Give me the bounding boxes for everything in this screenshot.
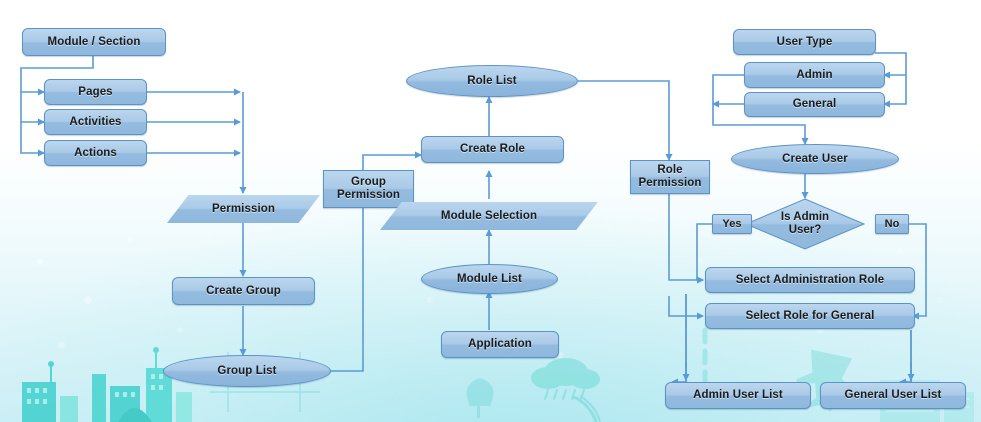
node-module-section[interactable]: Module / Section bbox=[22, 28, 166, 56]
node-application[interactable]: Application bbox=[441, 331, 559, 358]
node-module-list-label: Module List bbox=[457, 273, 522, 286]
node-select-administration-role-label: Select Administration Role bbox=[736, 274, 885, 287]
node-create-user[interactable]: Create User bbox=[731, 144, 899, 174]
no-label-text: No bbox=[885, 218, 900, 230]
node-pages-label: Pages bbox=[78, 86, 112, 99]
node-group-list-label: Group List bbox=[217, 365, 276, 378]
node-general-user-list-label: General User List bbox=[845, 389, 942, 402]
node-role-permission-label-line1: Role bbox=[657, 164, 682, 177]
node-create-role[interactable]: Create Role bbox=[421, 136, 564, 163]
node-general-label: General bbox=[793, 98, 837, 111]
node-user-type-label: User Type bbox=[777, 36, 833, 49]
node-pages[interactable]: Pages bbox=[44, 79, 147, 105]
node-permission-label: Permission bbox=[212, 203, 275, 216]
node-group-permission-label-line1: Group bbox=[351, 176, 386, 189]
decision-branch-yes-label: Yes bbox=[712, 214, 752, 234]
node-group-permission[interactable]: Group Permission bbox=[323, 170, 414, 208]
edge-select-general-to-general-user-list bbox=[900, 330, 911, 382]
node-admin-user-list[interactable]: Admin User List bbox=[665, 382, 811, 409]
node-create-user-label: Create User bbox=[782, 153, 848, 166]
node-module-selection[interactable]: Module Selection bbox=[380, 202, 598, 230]
node-create-role-label: Create Role bbox=[460, 143, 525, 156]
node-group-permission-label-line2: Permission bbox=[337, 189, 400, 202]
node-actions-label: Actions bbox=[74, 147, 117, 160]
node-is-admin-user-decision[interactable]: Is Admin User? bbox=[745, 198, 865, 250]
edge-role-list-to-role-permission bbox=[578, 81, 669, 160]
node-permission[interactable]: Permission bbox=[167, 195, 320, 223]
node-select-administration-role[interactable]: Select Administration Role bbox=[705, 267, 915, 293]
edge-user-type-to-general bbox=[884, 75, 906, 104]
node-create-group-label: Create Group bbox=[206, 285, 281, 298]
node-admin[interactable]: Admin bbox=[744, 62, 885, 88]
node-admin-user-list-label: Admin User List bbox=[693, 389, 783, 402]
node-role-permission[interactable]: Role Permission bbox=[630, 160, 710, 194]
edge-module-to-actions bbox=[21, 122, 44, 153]
node-module-section-label: Module / Section bbox=[48, 36, 141, 49]
edge-role-permission-to-select-admin bbox=[669, 193, 703, 280]
decision-diamond-shape bbox=[745, 198, 865, 250]
node-role-list[interactable]: Role List bbox=[406, 65, 578, 97]
node-group-list[interactable]: Group List bbox=[163, 355, 331, 387]
node-module-list[interactable]: Module List bbox=[421, 264, 558, 294]
flowchart-canvas: Module / Section Pages Activities Action… bbox=[0, 0, 981, 422]
node-activities-label: Activities bbox=[69, 116, 121, 129]
node-create-group[interactable]: Create Group bbox=[172, 277, 315, 305]
node-general-user-list[interactable]: General User List bbox=[820, 382, 966, 409]
node-activities[interactable]: Activities bbox=[44, 109, 147, 135]
yes-label-text: Yes bbox=[722, 218, 741, 230]
node-admin-label: Admin bbox=[796, 69, 832, 82]
node-select-role-for-general[interactable]: Select Role for General bbox=[705, 303, 915, 329]
node-actions[interactable]: Actions bbox=[44, 140, 147, 166]
node-role-permission-label-line2: Permission bbox=[639, 177, 702, 190]
edge-module-to-activities bbox=[21, 92, 44, 122]
edge-select-admin-to-admin-user-list bbox=[672, 294, 686, 382]
decision-branch-no-label: No bbox=[875, 214, 909, 234]
node-general[interactable]: General bbox=[744, 92, 885, 117]
node-role-list-label: Role List bbox=[467, 75, 516, 88]
node-select-role-for-general-label: Select Role for General bbox=[746, 310, 875, 323]
node-user-type[interactable]: User Type bbox=[733, 29, 876, 55]
node-application-label: Application bbox=[468, 338, 532, 351]
node-module-selection-label: Module Selection bbox=[441, 210, 537, 223]
